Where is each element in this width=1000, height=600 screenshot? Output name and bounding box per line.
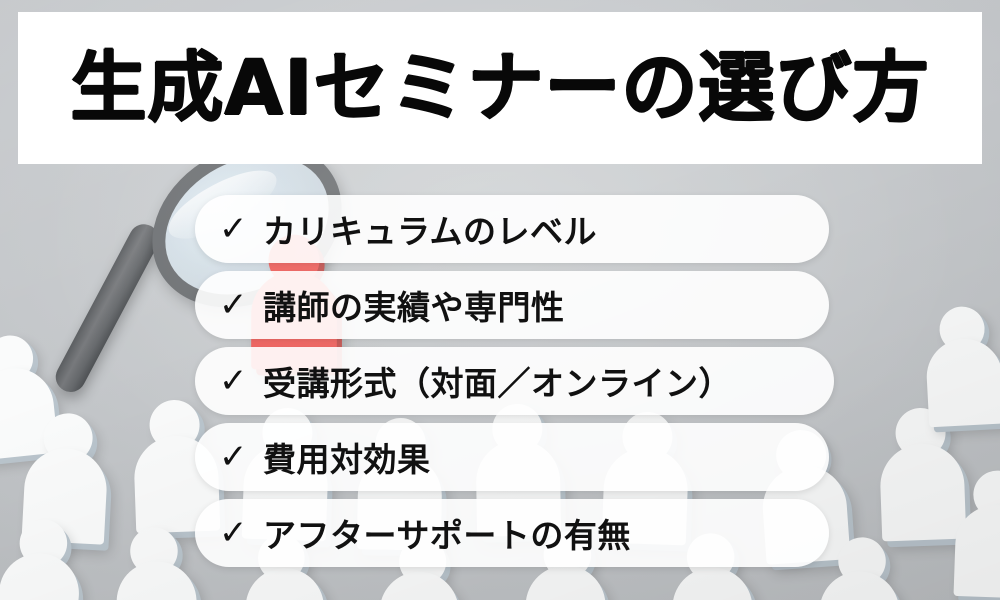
checklist-item-label: 費用対効果: [263, 433, 431, 481]
check-icon: ✓: [219, 212, 263, 246]
checklist-item-after-support[interactable]: ✓ アフターサポートの有無: [195, 499, 829, 567]
check-icon: ✓: [219, 364, 263, 398]
checklist-item-instructor-track-record[interactable]: ✓ 講師の実績や専門性: [195, 271, 829, 339]
title-banner: 生成AIセミナーの選び方: [18, 12, 982, 164]
checklist-item-cost-effectiveness[interactable]: ✓ 費用対効果: [195, 423, 829, 491]
checklist-item-format[interactable]: ✓ 受講形式（対面／オンライン）: [195, 347, 834, 415]
checklist-item-label: 受講形式（対面／オンライン）: [263, 357, 732, 405]
check-icon: ✓: [219, 440, 263, 474]
checklist-item-label: カリキュラムのレベル: [263, 205, 597, 253]
check-icon: ✓: [219, 516, 263, 550]
page-title: 生成AIセミナーの選び方: [70, 50, 929, 126]
checklist-item-label: アフターサポートの有無: [263, 509, 631, 557]
check-icon: ✓: [219, 288, 263, 322]
poster-canvas: 生成AIセミナーの選び方 ✓ カリキュラムのレベル ✓ 講師の実績や専門性 ✓ …: [0, 0, 1000, 600]
checklist-item-label: 講師の実績や専門性: [263, 281, 565, 329]
checklist-item-curriculum-level[interactable]: ✓ カリキュラムのレベル: [195, 195, 829, 263]
checklist: ✓ カリキュラムのレベル ✓ 講師の実績や専門性 ✓ 受講形式（対面／オンライン…: [195, 195, 895, 575]
